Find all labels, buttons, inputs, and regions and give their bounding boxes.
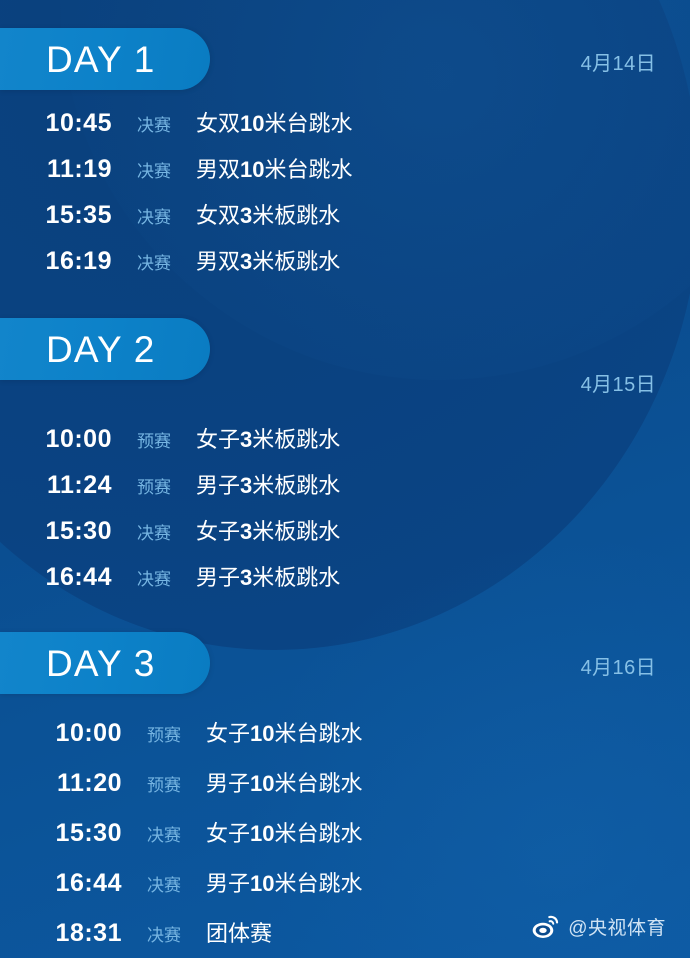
event-name: 女子10米台跳水 [206,716,363,748]
event-stage: 预赛 [122,771,206,796]
event-time: 11:19 [0,155,112,184]
day-header-3: DAY 3 4月16日 [0,632,690,694]
day-label-3: DAY 3 [46,645,156,682]
event-time: 10:00 [10,719,122,748]
event-time: 11:20 [10,769,122,798]
event-time: 15:35 [0,201,112,230]
event-time: 16:44 [10,869,122,898]
event-row: 16:44 决赛 男子3米板跳水 [0,560,690,606]
event-name: 女子10米台跳水 [206,816,363,848]
day-block-3: DAY 3 4月16日 10:00 预赛 女子10米台跳水 11:20 预赛 男… [0,606,690,958]
event-name: 男子10米台跳水 [206,866,363,898]
day-label-2: DAY 2 [46,331,156,368]
event-time: 10:45 [0,109,112,138]
day-header-2: DAY 2 4月15日 [0,318,690,380]
day-block-1: DAY 1 4月14日 10:45 决赛 女双10米台跳水 11:19 决赛 男… [0,0,690,290]
event-row: 10:00 预赛 女子3米板跳水 [0,422,690,468]
event-stage: 决赛 [122,921,206,946]
event-name: 团体赛 [206,916,272,948]
event-name: 男双3米板跳水 [196,244,340,276]
event-row: 16:44 决赛 男子10米台跳水 [0,866,690,916]
event-row: 10:45 决赛 女双10米台跳水 [0,106,690,152]
event-row: 15:35 决赛 女双3米板跳水 [0,198,690,244]
event-row: 16:19 决赛 男双3米板跳水 [0,244,690,290]
event-list-1: 10:45 决赛 女双10米台跳水 11:19 决赛 男双10米台跳水 15:3… [0,90,690,290]
event-time: 10:00 [0,425,112,454]
event-stage: 决赛 [122,821,206,846]
event-time: 15:30 [10,819,122,848]
event-stage: 预赛 [112,427,196,452]
weibo-handle: @央视体育 [568,913,666,940]
event-name: 女子3米板跳水 [196,422,340,454]
event-row: 11:24 预赛 男子3米板跳水 [0,468,690,514]
event-row: 11:19 决赛 男双10米台跳水 [0,152,690,198]
event-name: 男双10米台跳水 [196,152,353,184]
day-label-1: DAY 1 [46,41,156,78]
event-time: 15:30 [0,517,112,546]
day-block-2: DAY 2 4月15日 10:00 预赛 女子3米板跳水 11:24 预赛 男子… [0,290,690,606]
event-time: 11:24 [0,471,112,500]
event-time: 18:31 [10,919,122,948]
event-stage: 决赛 [112,519,196,544]
weibo-icon [532,915,559,939]
event-list-2: 10:00 预赛 女子3米板跳水 11:24 预赛 男子3米板跳水 15:30 … [0,380,690,606]
event-name: 男子3米板跳水 [196,468,340,500]
event-name: 男子10米台跳水 [206,766,363,798]
weibo-watermark: @央视体育 [532,913,666,940]
day-date-1: 4月14日 [581,47,656,76]
event-time: 16:19 [0,247,112,276]
day-badge-2: DAY 2 [0,318,210,380]
day-badge-1: DAY 1 [0,28,210,90]
event-row: 15:30 决赛 女子10米台跳水 [0,816,690,866]
event-stage: 决赛 [122,871,206,896]
event-stage: 预赛 [112,473,196,498]
event-stage: 决赛 [112,565,196,590]
event-stage: 决赛 [112,249,196,274]
day-header-1: DAY 1 4月14日 [0,28,690,90]
event-stage: 决赛 [112,111,196,136]
schedule-content: DAY 1 4月14日 10:45 决赛 女双10米台跳水 11:19 决赛 男… [0,0,690,958]
event-stage: 决赛 [112,157,196,182]
event-name: 女双10米台跳水 [196,106,353,138]
schedule-poster: DAY 1 4月14日 10:45 决赛 女双10米台跳水 11:19 决赛 男… [0,0,690,958]
day-date-3: 4月16日 [581,651,656,680]
event-row: 10:00 预赛 女子10米台跳水 [0,716,690,766]
event-stage: 决赛 [112,203,196,228]
event-name: 女子3米板跳水 [196,514,340,546]
event-name: 女双3米板跳水 [196,198,340,230]
event-time: 16:44 [0,563,112,592]
event-row: 15:30 决赛 女子3米板跳水 [0,514,690,560]
event-stage: 预赛 [122,721,206,746]
day-badge-3: DAY 3 [0,632,210,694]
day-date-2: 4月15日 [581,368,656,397]
event-row: 11:20 预赛 男子10米台跳水 [0,766,690,816]
event-name: 男子3米板跳水 [196,560,340,592]
